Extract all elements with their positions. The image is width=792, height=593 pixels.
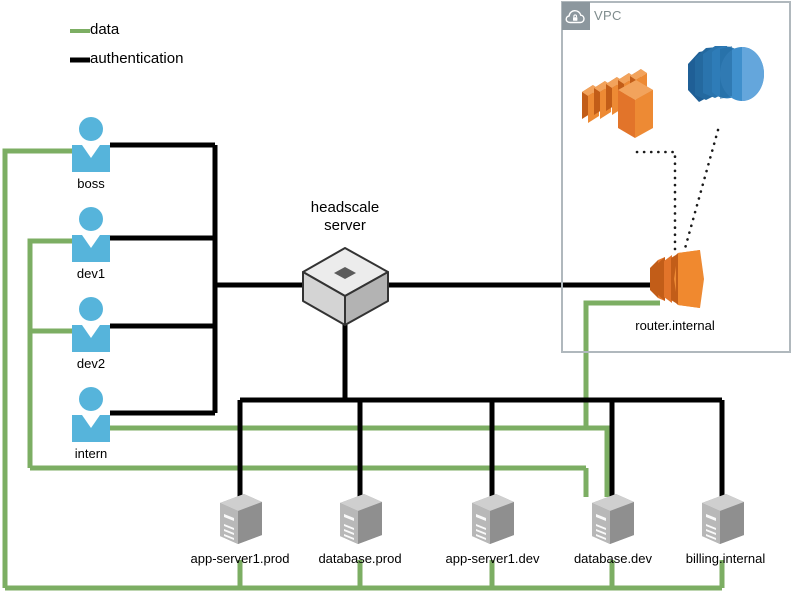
user-icon-dev2[interactable]: [72, 297, 110, 352]
user-label-dev1: dev1: [41, 266, 141, 281]
headscale-label-line1: headscale: [285, 199, 405, 217]
aws-instances-orange-icon[interactable]: [582, 69, 653, 138]
user-label-boss: boss: [41, 176, 141, 191]
headscale-label-line2: server: [285, 217, 405, 235]
server-icon-billing-internal[interactable]: [702, 494, 744, 544]
user-icon-intern[interactable]: [72, 387, 110, 442]
server-icon-database-dev[interactable]: [592, 494, 634, 544]
legend-label-data: data: [90, 21, 119, 38]
user-label-intern: intern: [41, 446, 141, 461]
server-icon-app-server1-dev[interactable]: [472, 494, 514, 544]
server-label-billing-internal: billing.internal: [668, 551, 783, 566]
user-icon-dev1[interactable]: [72, 207, 110, 262]
server-label-database-prod: database.prod: [305, 551, 415, 566]
server-label-app-server1-prod: app-server1.prod: [180, 551, 300, 566]
server-icon-database-prod[interactable]: [340, 494, 382, 544]
router-label: router.internal: [615, 318, 735, 333]
server-label-database-dev: database.dev: [558, 551, 668, 566]
server-icon-app-server1-prod[interactable]: [220, 494, 262, 544]
icons-layer: [0, 0, 792, 593]
cube-icon-headscale-server[interactable]: [303, 248, 388, 325]
user-label-dev2: dev2: [41, 356, 141, 371]
aws-database-blue-icon[interactable]: [688, 46, 764, 102]
user-icon-boss[interactable]: [72, 117, 110, 172]
legend-label-authentication: authentication: [90, 50, 183, 67]
network-diagram: data authentication boss dev1 dev2 inter…: [0, 0, 792, 593]
aws-router-orange-icon[interactable]: [650, 250, 704, 308]
server-label-app-server1-dev: app-server1.dev: [435, 551, 550, 566]
vpc-title: VPC: [594, 8, 622, 23]
